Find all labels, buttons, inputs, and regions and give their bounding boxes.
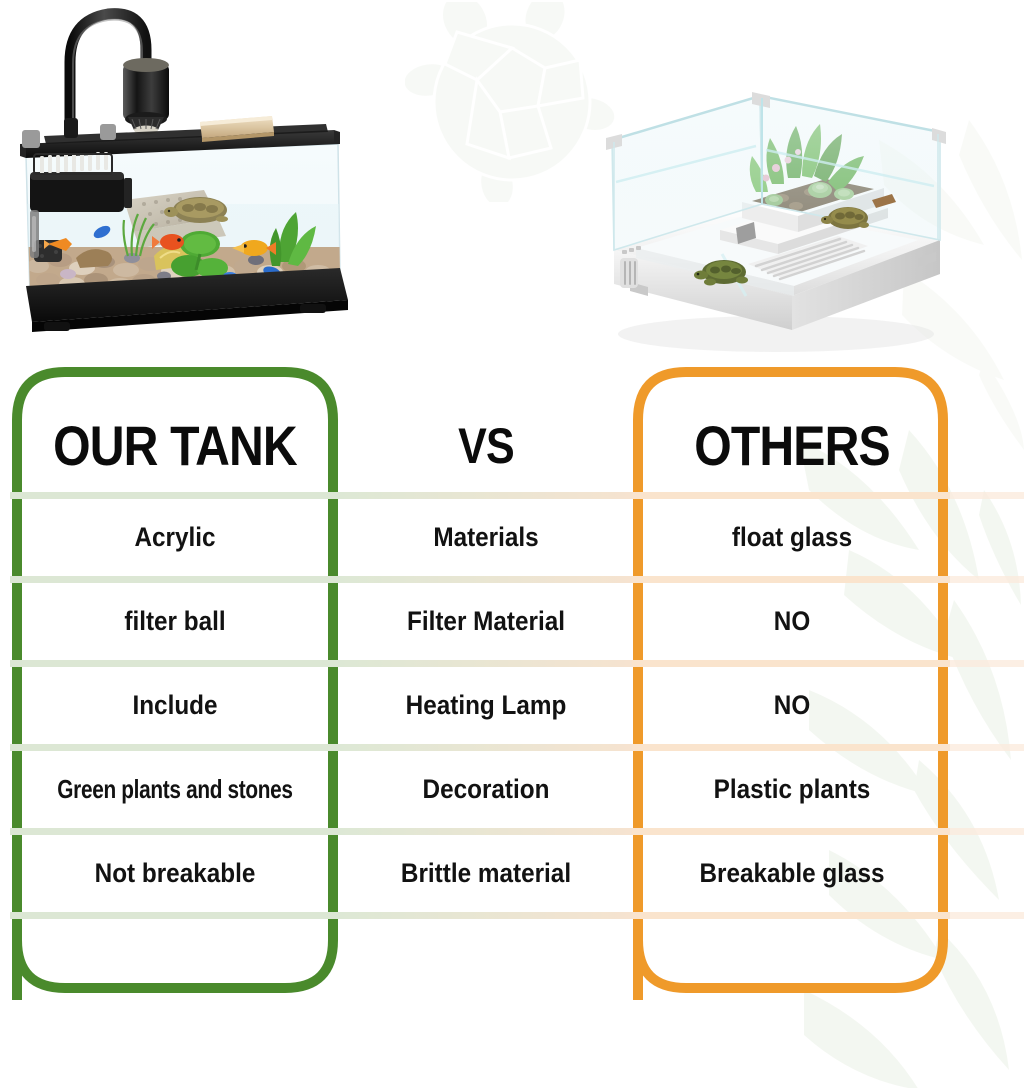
product-photo-our-tank (4, 4, 356, 334)
cell-feature: Decoration (355, 751, 618, 828)
cell-others: Breakable glass (650, 835, 934, 912)
cell-our-tank: Acrylic (28, 499, 321, 576)
cell-feature: Materials (355, 499, 618, 576)
table-row: Include Heating Lamp NO (0, 667, 1024, 744)
cell-others: NO (650, 667, 934, 744)
row-divider (0, 660, 1024, 667)
product-photo-others-tank (596, 82, 948, 358)
cell-our-tank: Green plants and stones (45, 751, 306, 828)
row-divider (0, 744, 1024, 751)
cell-others: Plastic plants (650, 751, 934, 828)
header-our-tank: OUR TANK (35, 400, 315, 492)
cell-others: NO (650, 583, 934, 660)
header-others: OTHERS (656, 400, 928, 492)
cell-our-tank: filter ball (28, 583, 321, 660)
table-row: Green plants and stones Decoration Plast… (0, 751, 1024, 828)
cell-our-tank: Not breakable (28, 835, 321, 912)
cell-feature: Filter Material (355, 583, 618, 660)
comparison-infographic: OUR TANK VS OTHERS Acrylic Materials flo… (0, 0, 1024, 1088)
cell-feature: Brittle material (355, 835, 618, 912)
comparison-table: OUR TANK VS OTHERS Acrylic Materials flo… (0, 360, 1024, 1000)
table-row: Not breakable Brittle material Breakable… (0, 835, 1024, 912)
header-vs: VS (360, 400, 611, 492)
row-divider (0, 492, 1024, 499)
cell-our-tank: Include (28, 667, 321, 744)
cell-feature: Heating Lamp (355, 667, 618, 744)
table-row: Acrylic Materials float glass (0, 499, 1024, 576)
row-divider (0, 576, 1024, 583)
row-divider (0, 912, 1024, 919)
table-row: filter ball Filter Material NO (0, 583, 1024, 660)
cell-others: float glass (650, 499, 934, 576)
row-divider (0, 828, 1024, 835)
table-header-row: OUR TANK VS OTHERS (0, 400, 1024, 492)
